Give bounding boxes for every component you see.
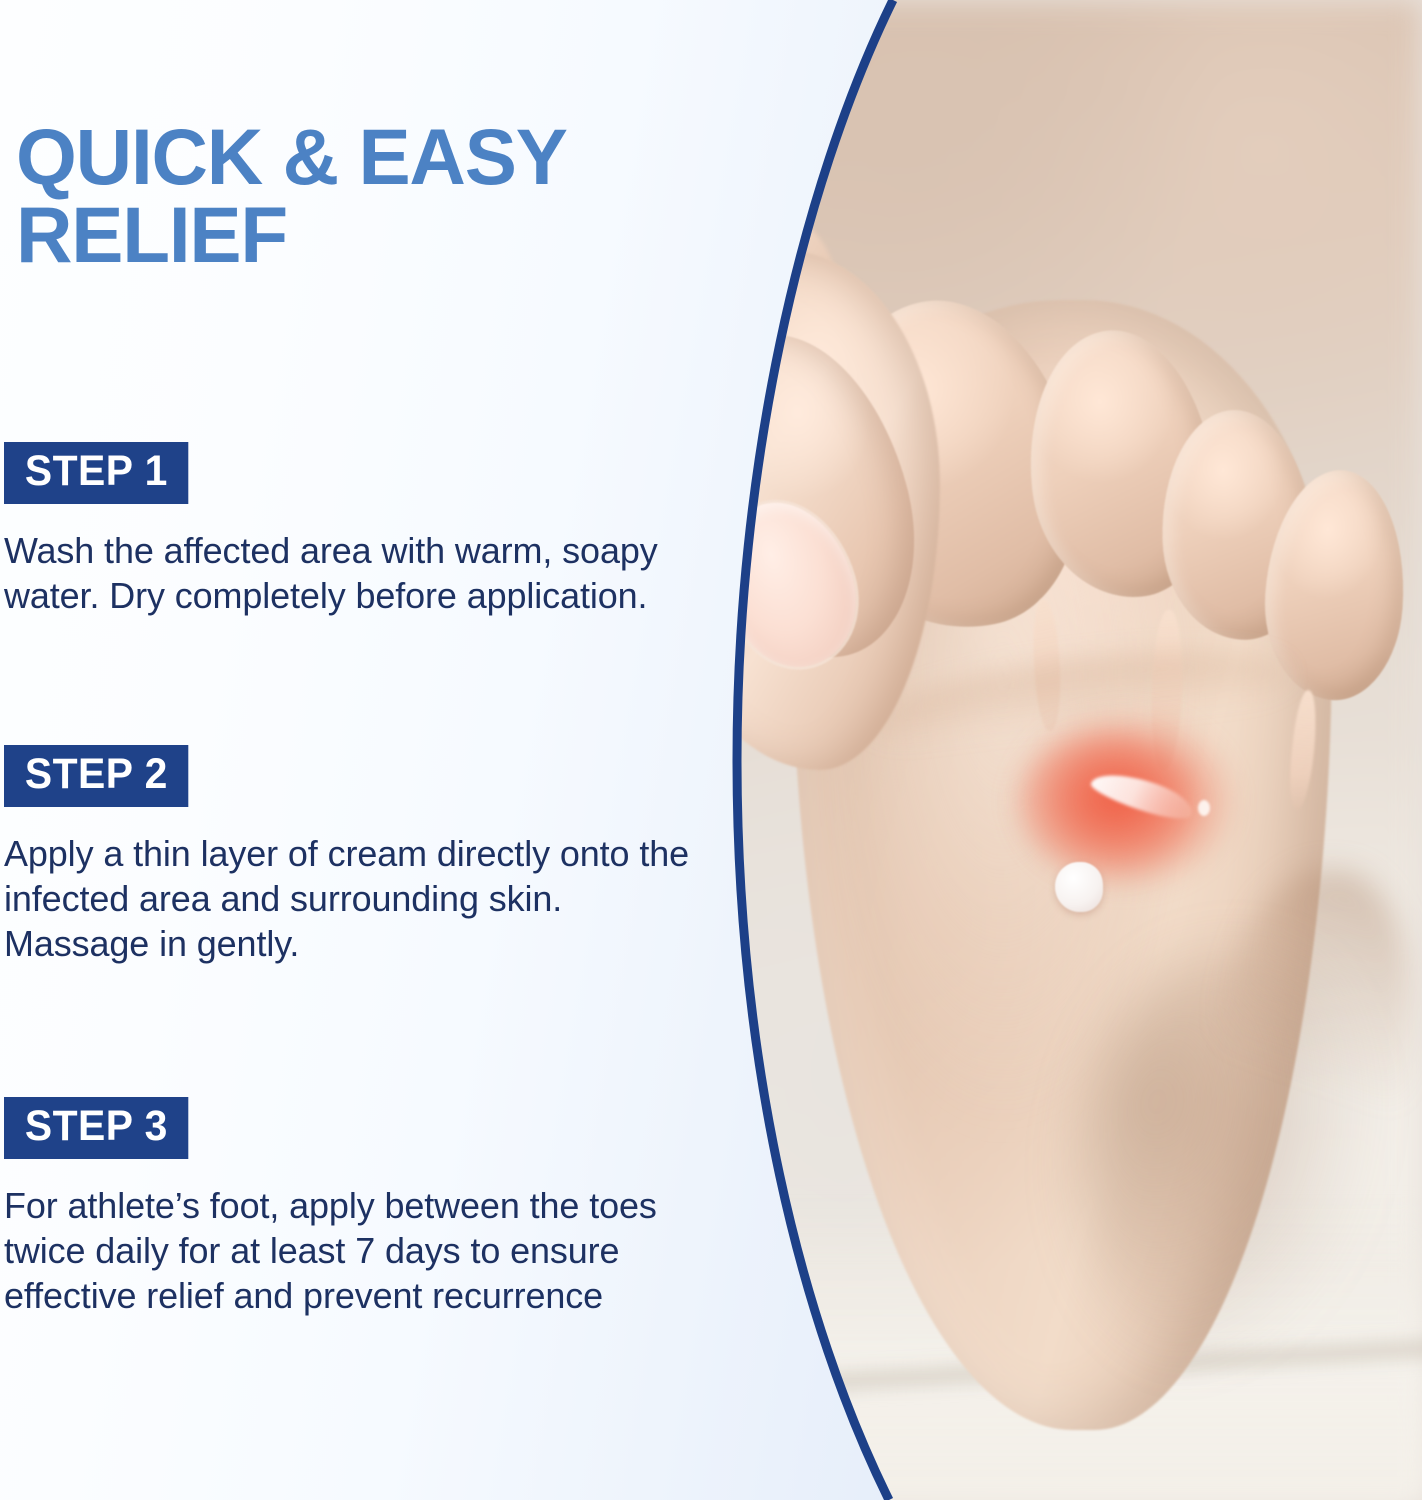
step-badge-1: STEP 1 — [4, 442, 189, 504]
cream-blob — [1055, 862, 1103, 912]
step-badge-3: STEP 3 — [4, 1097, 189, 1159]
step-item-1: STEP 1 Wash the affected area with warm,… — [4, 442, 744, 619]
headline-line-1: QUICK & EASY — [16, 112, 567, 201]
page-title: QUICK & EASY RELIEF — [16, 118, 808, 274]
step-description-2: Apply a thin layer of cream directly ont… — [4, 832, 694, 967]
step-description-3: For athlete’s foot, apply between the to… — [4, 1184, 713, 1319]
cream-fleck — [1198, 800, 1210, 816]
step-description-1: Wash the affected area with warm, soapy … — [4, 529, 694, 619]
infographic-root: QUICK & EASY RELIEF STEP 1 Wash the affe… — [0, 0, 1422, 1500]
step-item-2: STEP 2 Apply a thin layer of cream direc… — [4, 745, 744, 967]
headline-line-2: RELIEF — [16, 190, 287, 279]
step-badge-2: STEP 2 — [4, 745, 189, 807]
step-item-3: STEP 3 For athlete’s foot, apply between… — [4, 1097, 744, 1319]
